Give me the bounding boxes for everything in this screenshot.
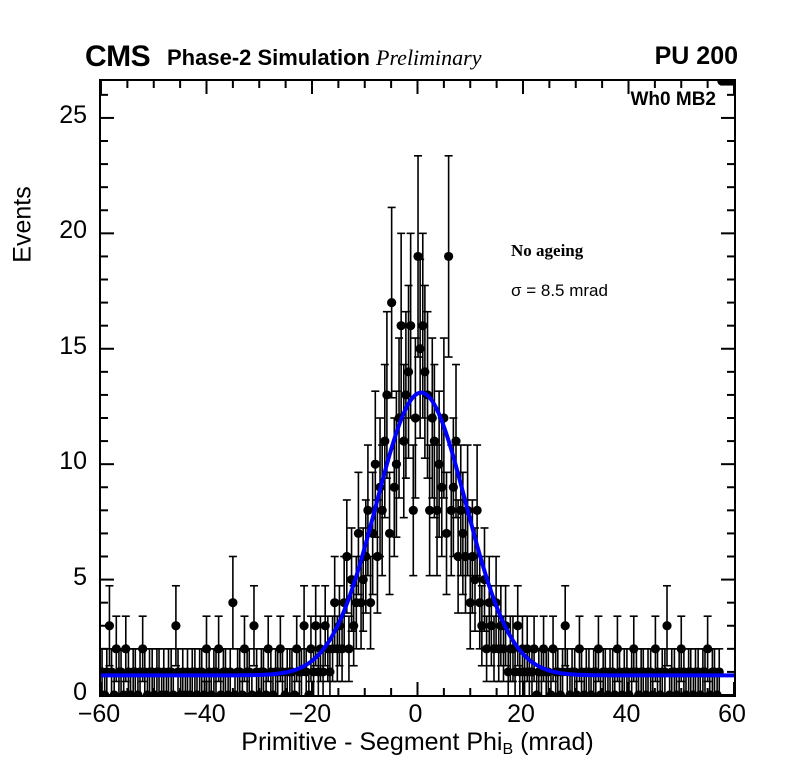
x-tick-label: −60 [64, 702, 134, 727]
x-tick-label: −20 [275, 702, 345, 727]
y-axis-title: Events [9, 140, 38, 310]
cms-subtitle: Phase-2 Simulation [167, 47, 370, 69]
y-tick-label: 25 [47, 103, 87, 128]
preliminary-label: Preliminary [376, 47, 482, 69]
cms-logo: CMS [85, 42, 150, 72]
x-axis-title-unit: (mrad) [513, 728, 594, 756]
x-tick-label: 0 [381, 702, 451, 727]
y-tick-label: 5 [47, 565, 87, 590]
x-axis-title: Primitive - Segment PhiB (mrad) [99, 728, 736, 759]
plot-canvas: CMS Phase-2 Simulation Preliminary PU 20… [0, 0, 796, 772]
x-tick-label: 40 [592, 702, 662, 727]
plot-frame: Wh0 MB2 No ageing σ = 8.5 mrad [99, 79, 736, 697]
plot-header: CMS Phase-2 Simulation Preliminary PU 20… [0, 0, 796, 44]
x-tick-label: 20 [486, 702, 556, 727]
y-tick-label: 15 [47, 334, 87, 359]
y-tick-label: 20 [47, 218, 87, 243]
x-axis-title-sub: B [502, 741, 513, 758]
x-axis-title-main: Primitive - Segment Phi [241, 728, 502, 756]
x-tick-label: −40 [170, 702, 240, 727]
axis-ticks [101, 81, 734, 695]
pileup-label: PU 200 [655, 44, 738, 69]
x-tick-label: 60 [697, 702, 767, 727]
y-tick-label: 10 [47, 449, 87, 474]
